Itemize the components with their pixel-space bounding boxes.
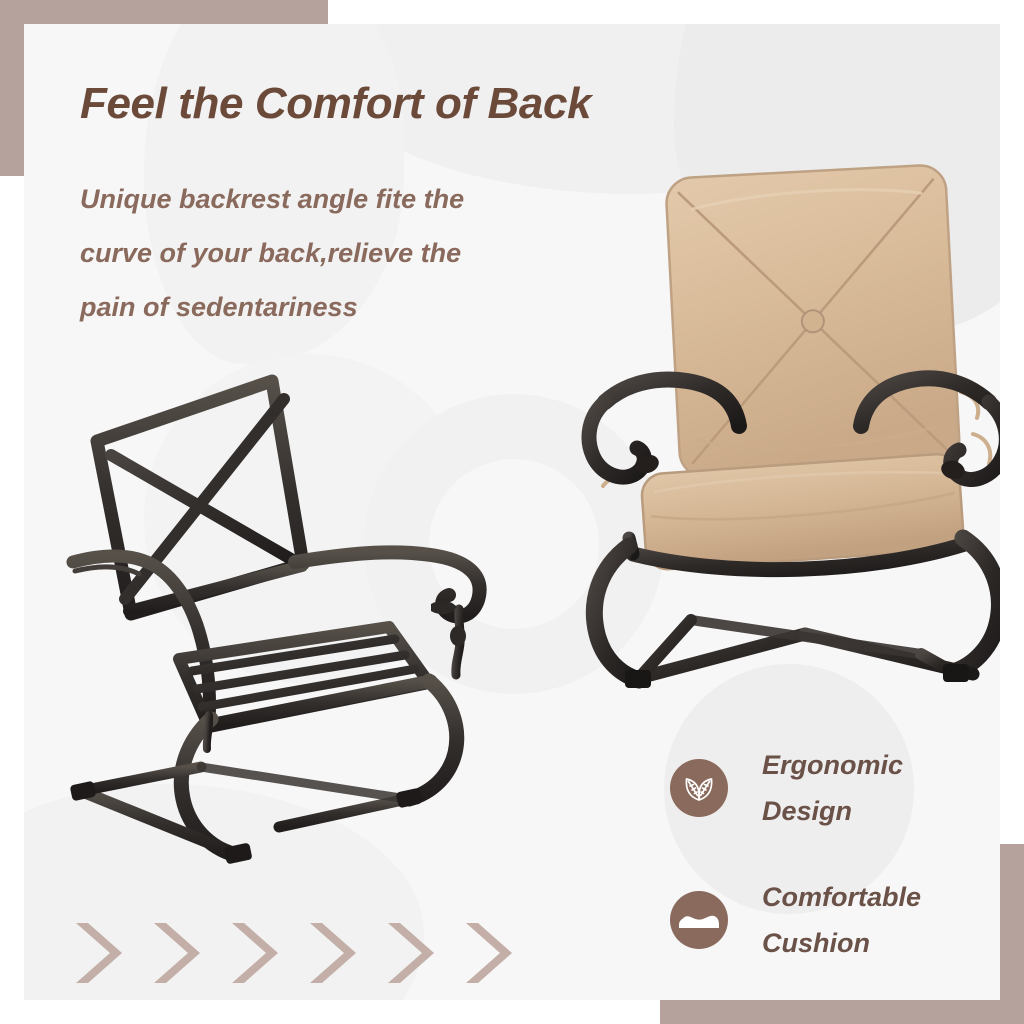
leaf-icon bbox=[670, 759, 728, 817]
feature-label: Ergonomic Design bbox=[762, 742, 903, 834]
product-image-chair-cushioned bbox=[569, 134, 1000, 714]
product-feature-banner: Feel the Comfort of Back Unique backrest… bbox=[0, 0, 1024, 1024]
cushion-icon bbox=[670, 891, 728, 949]
corner-bracket-top-left-vertical bbox=[0, 0, 24, 176]
corner-bracket-bottom-right-vertical bbox=[1000, 844, 1024, 1024]
banner-canvas: Feel the Comfort of Back Unique backrest… bbox=[24, 24, 1000, 1000]
feature-item-ergonomic-design: Ergonomic Design bbox=[670, 742, 903, 834]
forward-chevrons bbox=[70, 919, 540, 987]
corner-bracket-top-left-horizontal bbox=[0, 0, 328, 24]
subtitle-line: curve of your back,relieve the bbox=[80, 226, 600, 280]
product-image-chair-frame bbox=[59, 359, 519, 879]
subtitle: Unique backrest angle fite the curve of … bbox=[80, 172, 600, 334]
corner-bracket-bottom-right-horizontal bbox=[660, 1000, 1024, 1024]
subtitle-line: pain of sedentariness bbox=[80, 280, 600, 334]
feature-item-comfortable-cushion: Comfortable Cushion bbox=[670, 874, 921, 966]
subtitle-line: Unique backrest angle fite the bbox=[80, 172, 600, 226]
page-title: Feel the Comfort of Back bbox=[80, 79, 591, 129]
feature-label: Comfortable Cushion bbox=[762, 874, 921, 966]
